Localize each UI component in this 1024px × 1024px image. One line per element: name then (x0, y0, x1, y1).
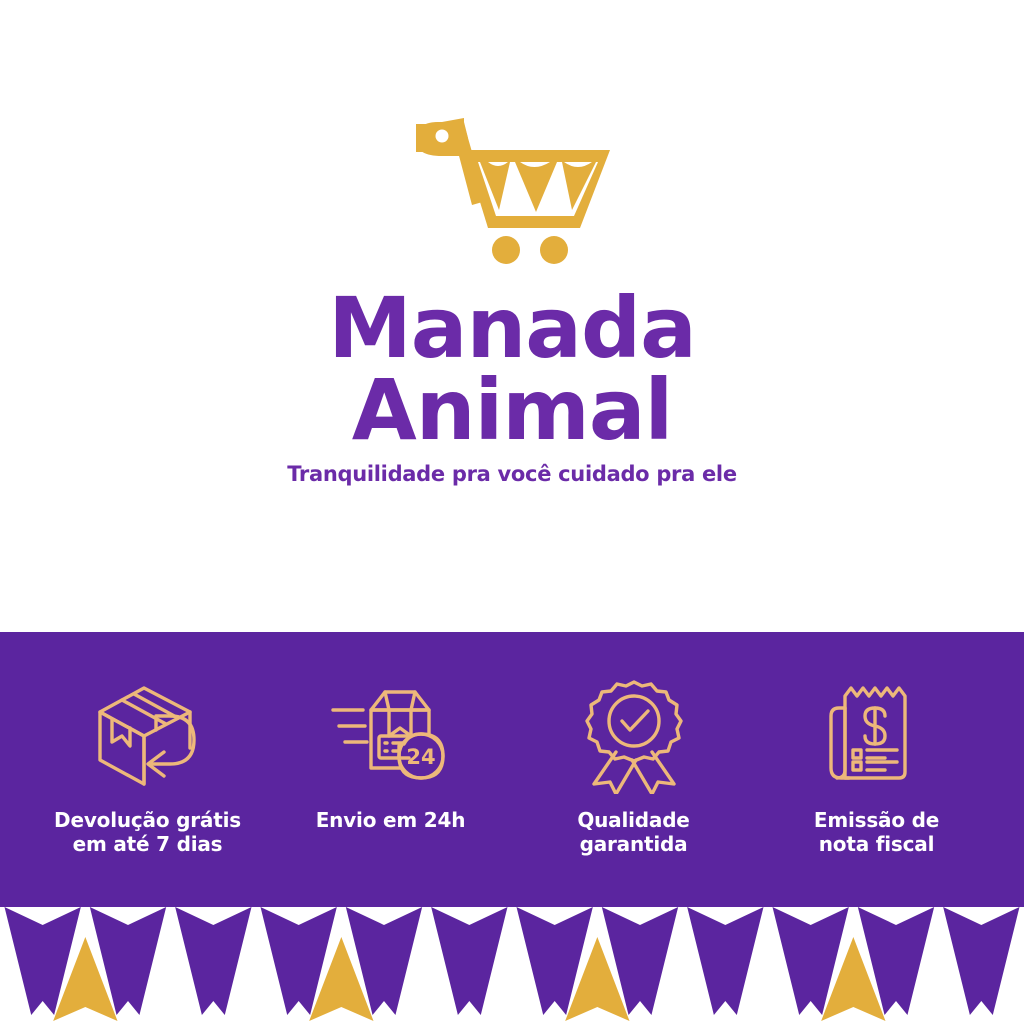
feature-item-quality: Qualidade garantida (512, 632, 755, 857)
feature-banner: Devolução grátis em até 7 dias (0, 632, 1024, 903)
brand-name: Manada Animal (328, 287, 696, 452)
brand-tagline: Tranquilidade pra você cuidado pra ele (287, 462, 737, 486)
banner-edge-bar (0, 903, 1024, 907)
svg-text:24: 24 (406, 745, 435, 769)
invoice-receipt-icon (815, 674, 939, 794)
chevron-pennant-border (0, 903, 1024, 1024)
feature-item-shipping: 24 Envio em 24h (269, 632, 512, 832)
feature-item-invoice: Emissão de nota fiscal (755, 632, 998, 857)
feature-label-return: Devolução grátis em até 7 dias (54, 808, 241, 857)
feature-label-quality: Qualidade garantida (577, 808, 689, 857)
feature-label-invoice: Emissão de nota fiscal (814, 808, 939, 857)
dog-shopping-cart-icon (402, 100, 622, 265)
feature-item-return: Devolução grátis em até 7 dias (26, 632, 269, 857)
brand-name-line-2: Animal (328, 369, 696, 451)
return-box-arrow-icon (86, 674, 210, 794)
poster-canvas: Manada Animal Tranquilidade pra você cui… (0, 0, 1024, 1024)
quality-badge-check-icon (572, 674, 696, 794)
feature-label-shipping: Envio em 24h (316, 808, 466, 832)
logo-section: Manada Animal Tranquilidade pra você cui… (0, 0, 1024, 632)
brand-name-line-1: Manada (328, 287, 696, 369)
fast-shipping-24h-icon: 24 (329, 674, 453, 794)
